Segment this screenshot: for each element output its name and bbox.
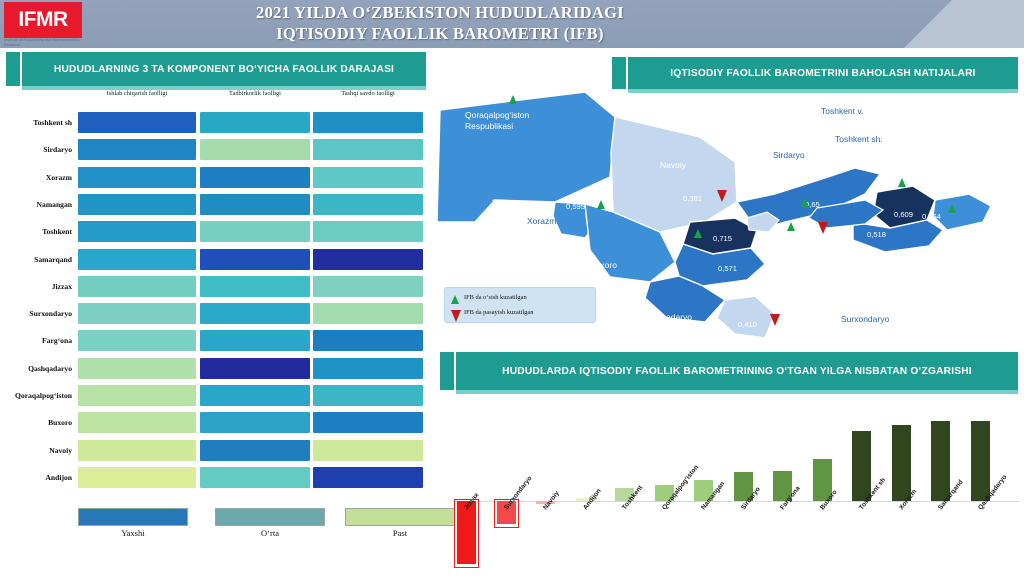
increase-arrow-icon bbox=[948, 204, 956, 213]
table-cell bbox=[78, 221, 196, 242]
table-header-tab bbox=[6, 52, 20, 86]
table-legend: YaxshiO‘rtaPast bbox=[60, 508, 430, 550]
table-cell bbox=[313, 467, 423, 488]
map-region-value: 0,381 bbox=[683, 194, 702, 203]
table-cell bbox=[78, 467, 196, 488]
table-row-label: Xorazm bbox=[0, 173, 75, 182]
map-region-label: Namangan bbox=[929, 154, 971, 164]
table-cell bbox=[200, 303, 310, 324]
chart-bar bbox=[852, 431, 871, 501]
map-region-label: Xorazm bbox=[527, 216, 556, 226]
chart-panel-header: HUDUDLARDA IQTISODIY FAOLLIK BAROMETRINI… bbox=[456, 352, 1018, 390]
component-activity-table: Toshkent shSirdaryoXorazmNamanganToshken… bbox=[0, 90, 430, 510]
table-cell bbox=[200, 249, 310, 270]
table-cell bbox=[313, 358, 423, 379]
table-column-header-2: Tadbirkorlik faolligi bbox=[200, 90, 310, 97]
yoy-change-bar-chart: JizzaxSurxondaryoNavoiyAndijonToshkentQo… bbox=[435, 405, 1024, 576]
map-region-value: 0,595 bbox=[566, 202, 585, 211]
table-cell bbox=[78, 276, 196, 297]
ifmr-logo: IFMR bbox=[4, 2, 82, 38]
table-cell bbox=[313, 221, 423, 242]
map-region-label: Samarqand bbox=[835, 254, 879, 264]
map-region-label: Andijon bbox=[972, 234, 1000, 244]
table-cell bbox=[78, 385, 196, 406]
table-cell bbox=[313, 139, 423, 160]
table-row-label: Farg‘ona bbox=[0, 336, 75, 345]
table-cell bbox=[78, 249, 196, 270]
map-region-value: 0,715 bbox=[713, 234, 732, 243]
table-cell bbox=[313, 194, 423, 215]
table-row-label: Samarqand bbox=[0, 255, 75, 264]
table-cell bbox=[200, 276, 310, 297]
table-cell bbox=[78, 358, 196, 379]
chart-header-tab bbox=[440, 352, 454, 390]
increase-arrow-icon bbox=[801, 198, 809, 207]
map-region-value: 0,609 bbox=[894, 210, 913, 219]
table-row-label: Toshkent sh bbox=[0, 118, 75, 127]
increase-arrow-icon bbox=[787, 222, 795, 231]
decrease-arrow-icon bbox=[818, 222, 828, 234]
table-cell bbox=[200, 221, 310, 242]
map-region-value: 0,571 bbox=[718, 264, 737, 273]
table-cell bbox=[313, 276, 423, 297]
decrease-arrow-icon bbox=[717, 190, 727, 202]
table-cell bbox=[313, 249, 423, 270]
table-cell bbox=[78, 167, 196, 188]
logo-text: IFMR bbox=[18, 8, 67, 32]
map-region-label: Toshkent v. bbox=[821, 106, 863, 116]
table-cell bbox=[313, 412, 423, 433]
chart-bar-highlight bbox=[454, 499, 479, 568]
table-cell bbox=[78, 412, 196, 433]
decrease-arrow-icon bbox=[770, 314, 780, 326]
map-region-value: 0,490 bbox=[663, 230, 682, 239]
table-cell bbox=[200, 112, 310, 133]
table-cell bbox=[200, 358, 310, 379]
decrease-arrow-icon bbox=[451, 310, 461, 322]
map-region-value: 0,464 bbox=[922, 212, 941, 221]
table-cell bbox=[200, 330, 310, 351]
map-panel-header-text: IQTISODIY FAOLLIK BAROMETRINI BAHOLASH N… bbox=[670, 68, 975, 79]
table-cell bbox=[200, 412, 310, 433]
map-region-label: Qashqadaryo bbox=[641, 312, 692, 322]
table-row-label: Surxondaryo bbox=[0, 309, 75, 318]
map-region-value: 0,518 bbox=[867, 230, 886, 239]
increase-arrow-icon bbox=[509, 95, 517, 104]
map-region-label: Buxoro bbox=[590, 260, 617, 270]
map-region-label: Surxondaryo bbox=[841, 314, 889, 324]
table-row-label: Navoiy bbox=[0, 446, 75, 455]
table-cell bbox=[78, 112, 196, 133]
table-cell bbox=[78, 303, 196, 324]
map-region-label: Jizzax bbox=[751, 108, 775, 118]
table-cell bbox=[78, 330, 196, 351]
page-title-line2: IQTISODIY FAOLLIK BAROMETRI (IFB) bbox=[120, 23, 760, 44]
chart-header-underline bbox=[456, 390, 1018, 394]
map-region-value: 0,410 bbox=[738, 320, 757, 329]
map-region-value: 0,490 bbox=[830, 228, 849, 237]
map-region-label: Sirdaryo bbox=[773, 150, 805, 160]
table-cell bbox=[313, 303, 423, 324]
table-row-label: Qoraqalpog‘iston bbox=[0, 391, 75, 400]
map-region-value: 0,464 bbox=[872, 182, 891, 191]
page-title: 2021 YILDA O‘ZBEKISTON HUDUDLARIDAGI IQT… bbox=[120, 2, 760, 44]
infographic-root: IFMR Institute of Forecasting and Macroe… bbox=[0, 0, 1024, 576]
page-title-line1: 2021 YILDA O‘ZBEKISTON HUDUDLARIDAGI bbox=[120, 2, 760, 23]
chart-panel-header-text: HUDUDLARDA IQTISODIY FAOLLIK BAROMETRINI… bbox=[502, 365, 972, 378]
increase-arrow-icon bbox=[451, 295, 459, 304]
increase-arrow-icon bbox=[898, 178, 906, 187]
map-region-label: Qoraqalpog‘iston Respublikasi bbox=[465, 110, 575, 132]
table-cell bbox=[200, 194, 310, 215]
map-region-label: Farg‘ona bbox=[887, 262, 921, 272]
table-column-header-1: Ishlab chiqarish faolligi bbox=[78, 90, 196, 97]
table-cell bbox=[313, 167, 423, 188]
table-cell bbox=[313, 330, 423, 351]
table-row-label: Buxoro bbox=[0, 418, 75, 427]
table-row-label: Namangan bbox=[0, 200, 75, 209]
legend-swatch bbox=[215, 508, 325, 526]
increase-arrow-icon bbox=[694, 229, 702, 238]
table-cell bbox=[313, 440, 423, 461]
table-row-label: Andijon bbox=[0, 473, 75, 482]
chart-bar bbox=[931, 421, 950, 501]
chart-bar bbox=[971, 421, 990, 501]
chart-bar-highlight bbox=[494, 499, 519, 528]
map-region-value: 0,456 bbox=[467, 96, 486, 105]
table-cell bbox=[78, 139, 196, 160]
table-cell bbox=[200, 467, 310, 488]
table-column-header-3: Tashqi savdo faolligi bbox=[313, 90, 423, 97]
map-legend: IFB da o‘sish kuzatilganIFB da pasayish … bbox=[444, 287, 596, 323]
legend-label: Yaxshi bbox=[78, 528, 188, 538]
table-cell bbox=[200, 139, 310, 160]
increase-arrow-icon bbox=[597, 200, 605, 209]
table-cell bbox=[200, 440, 310, 461]
legend-swatch bbox=[78, 508, 188, 526]
map-region-label: Toshkent sh. bbox=[835, 134, 883, 144]
map-region-label: Navoiy bbox=[660, 160, 686, 170]
table-cell bbox=[200, 385, 310, 406]
logo-subtitle: Institute of Forecasting and Macroeconom… bbox=[4, 38, 90, 47]
table-panel-header-text: HUDUDLARNING 3 TA KOMPONENT BO‘YICHA FAO… bbox=[54, 63, 394, 76]
table-cell bbox=[200, 167, 310, 188]
table-panel-header: HUDUDLARNING 3 TA KOMPONENT BO‘YICHA FAO… bbox=[22, 52, 426, 86]
table-row-label: Jizzax bbox=[0, 282, 75, 291]
table-cell bbox=[313, 385, 423, 406]
chart-bar bbox=[892, 425, 911, 501]
table-row-label: Sirdaryo bbox=[0, 145, 75, 154]
table-cell bbox=[78, 440, 196, 461]
table-row-label: Qashqadaryo bbox=[0, 364, 75, 373]
map-legend-label: IFB da pasayish kuzatilgan bbox=[464, 309, 533, 316]
map-legend-label: IFB da o‘sish kuzatilgan bbox=[464, 294, 527, 301]
table-row-label: Toshkent bbox=[0, 227, 75, 236]
legend-label: O‘rta bbox=[215, 528, 325, 538]
table-cell bbox=[313, 112, 423, 133]
table-cell bbox=[78, 194, 196, 215]
